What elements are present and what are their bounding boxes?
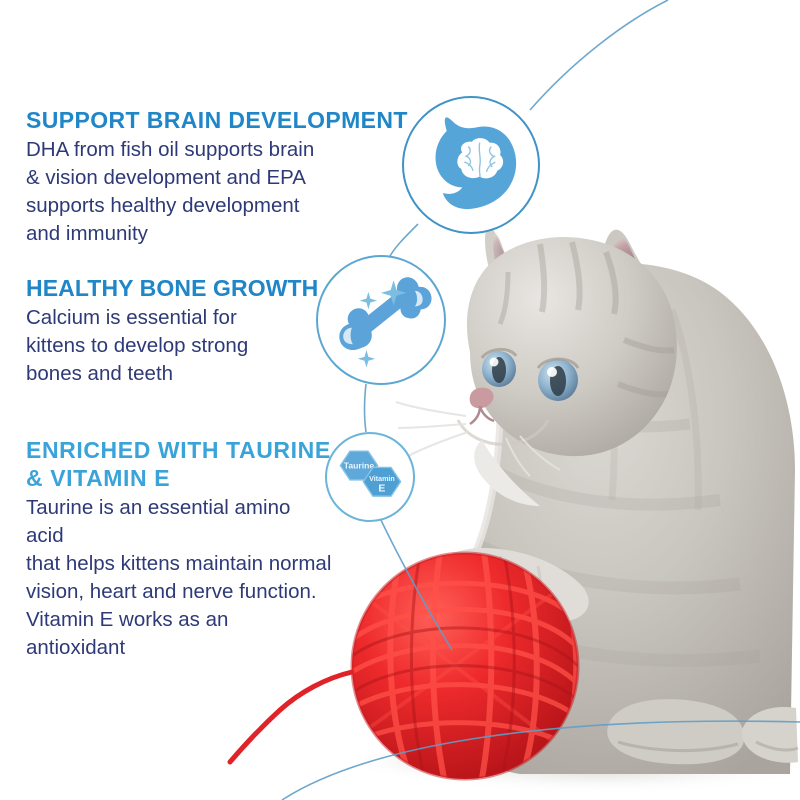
kitten-front-paw (422, 548, 588, 626)
section-brain-heading: SUPPORT BRAIN DEVELOPMENT (26, 106, 408, 134)
hexagon-taurine-label: Taurine (344, 460, 375, 470)
taurine-vitamin-hexagons-icon: Taurine Vitamin E (325, 432, 415, 522)
kitten-eye-left (482, 349, 516, 387)
connector-bone-taurine (365, 384, 367, 432)
kitten-eye-right (538, 359, 578, 401)
bone-sparkle-icon (316, 255, 446, 385)
section-bone-growth: HEALTHY BONE GROWTH Calcium is essential… (26, 274, 332, 388)
section-taurine-heading: ENRICHED WITH TAURINE & VITAMIN E (26, 436, 332, 492)
section-taurine-vitamin-e: ENRICHED WITH TAURINE & VITAMIN E Taurin… (26, 436, 332, 662)
kitten-body (439, 263, 795, 774)
connector-bottom (282, 721, 800, 800)
connector-top (530, 0, 668, 110)
kitten-nose (470, 388, 494, 424)
kitten-rear-paws (607, 699, 798, 764)
section-brain-body: DHA from fish oil supports brain & visio… (26, 136, 408, 248)
infographic-poster: Taurine Vitamin E SUPPORT BRAIN DEVELOPM… (0, 0, 800, 800)
section-taurine-body: Taurine is an essential amino acid that … (26, 494, 332, 662)
yarn-strand (230, 672, 352, 762)
hexagon-e-label: E (378, 482, 385, 494)
section-brain-development: SUPPORT BRAIN DEVELOPMENT DHA from fish … (26, 106, 408, 248)
section-bone-heading: HEALTHY BONE GROWTH (26, 274, 332, 302)
connector-taurine-down (380, 518, 452, 650)
cat-head-brain-icon (402, 96, 540, 234)
kitten-whiskers (396, 402, 560, 476)
section-bone-body: Calcium is essential for kittens to deve… (26, 304, 332, 388)
